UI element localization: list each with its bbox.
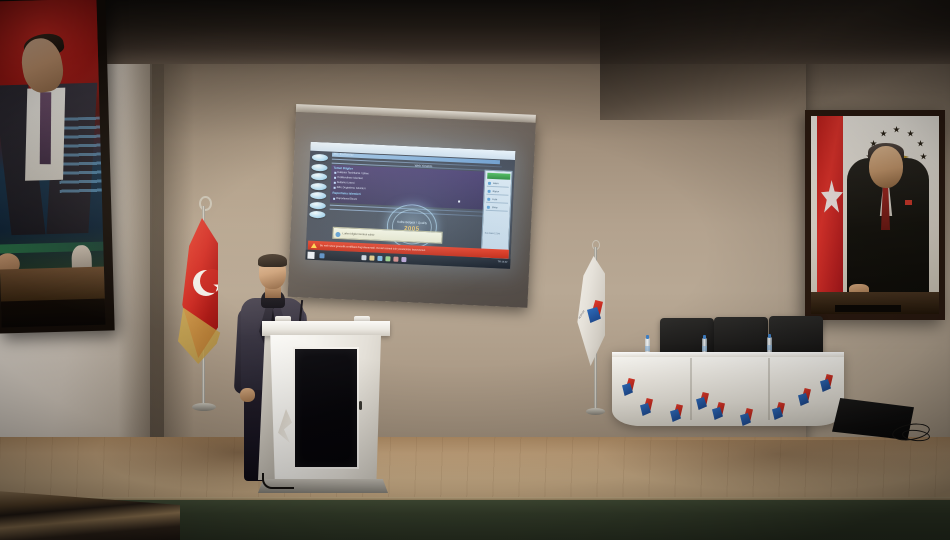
bottle-label	[767, 345, 772, 350]
portrait-foreground-dark	[1, 298, 106, 327]
cloth-logo-icon	[798, 388, 813, 406]
cloth-logo-icon	[696, 392, 711, 410]
row-icon	[487, 197, 491, 201]
lectern-cable	[262, 473, 294, 489]
menu-bullet	[334, 172, 336, 174]
portrait-blue-lights	[58, 117, 104, 196]
side-panel-footer: Son Giris 12:04	[485, 233, 507, 236]
system-tray-clock[interactable]: TR 14:22	[498, 260, 508, 263]
cloth-logo-icon	[820, 374, 835, 392]
portrait-head	[869, 146, 903, 188]
side-panel-row[interactable]: Rapor	[486, 188, 508, 196]
side-panel-row[interactable]: Onay	[486, 204, 508, 212]
menu-section-heading: Raporlama Islemleri	[332, 191, 361, 196]
turkish-flag-stand	[170, 196, 232, 424]
cloth-logo-icon	[670, 404, 685, 422]
menu-item[interactable]: Sifre Degistirme Islemleri	[337, 185, 366, 189]
bottle-cap	[646, 335, 649, 339]
side-panel-header	[487, 172, 510, 179]
flag-base	[586, 408, 605, 415]
portrait-desk-shadow	[835, 305, 901, 312]
slide-menu-block: Temel Bilgiler Kullanici Tanimlama / Sil…	[330, 165, 502, 211]
badge-caption: Kalite Belgesi / Quality	[388, 219, 436, 225]
menu-bullet	[334, 177, 336, 179]
menu-item[interactable]: Kullanici Tanimlama / Silme	[337, 170, 369, 174]
taskbar-app-icon[interactable]	[393, 256, 398, 261]
bubble-button[interactable]	[312, 154, 328, 162]
bottle-label	[645, 346, 650, 351]
flag-finial-icon	[199, 196, 212, 211]
lectern-dark-panel	[293, 347, 359, 469]
presenter-hair	[258, 254, 287, 267]
bubble-button[interactable]	[310, 192, 326, 200]
bubble-button[interactable]	[310, 201, 326, 209]
framed-portrait-president	[805, 110, 945, 320]
lectern-latch	[359, 401, 362, 410]
cloth-logo-icon	[772, 402, 787, 420]
bubble-button[interactable]	[311, 163, 327, 171]
portrait-desk	[811, 292, 939, 314]
taskbar-app-icon[interactable]	[361, 255, 366, 260]
institution-flag-cloth: KURUM	[575, 256, 605, 366]
row-icon	[488, 189, 492, 193]
lectern	[262, 321, 390, 497]
cloth-logo-icon	[712, 402, 727, 420]
menu-bullet	[334, 182, 336, 184]
slide-side-panel[interactable]: Islem Rapor Liste Onay Son Giris 12:04	[480, 170, 512, 261]
start-button-icon[interactable]	[307, 251, 314, 258]
bubble-button[interactable]	[311, 173, 327, 181]
presenter-hand	[240, 388, 255, 402]
lapel-flag-pin-icon	[905, 200, 912, 205]
portrait-turkish-flag	[817, 116, 843, 296]
warning-icon	[310, 242, 316, 247]
taskbar-app-icon[interactable]	[401, 256, 406, 261]
flag-base	[192, 403, 216, 411]
lectern-top-surface	[262, 321, 390, 336]
bubble-button[interactable]	[309, 211, 325, 219]
menu-bullet	[333, 198, 335, 200]
mouse-cursor-icon	[458, 200, 460, 202]
side-panel-row[interactable]: Liste	[486, 196, 508, 204]
cloth-logo-icon	[740, 408, 755, 426]
taskbar-app-icon[interactable]	[369, 255, 374, 260]
slide-header-left: Hi, Kullanici	[334, 152, 354, 157]
cloth-logo-icon	[622, 378, 637, 396]
portrait-canvas-right	[811, 116, 939, 314]
projected-slide: Hi, Kullanici Web Yonetim Temel Bilgiler…	[305, 142, 515, 269]
row-icon	[488, 181, 492, 185]
taskbar-app-icon[interactable]	[385, 256, 390, 261]
bottle-label	[702, 346, 707, 351]
conference-hall-scene: Hi, Kullanici Web Yonetim Temel Bilgiler…	[0, 0, 950, 540]
bottle-cap	[703, 335, 706, 339]
slide-bubble-buttons[interactable]	[309, 154, 330, 221]
crescent-icon	[193, 270, 219, 296]
taskbar-app-icon[interactable]	[377, 255, 382, 260]
table-edge	[612, 352, 844, 357]
menu-item[interactable]: Yetkilendirme Islemleri	[337, 175, 363, 179]
portrait-desk	[0, 266, 106, 303]
side-panel-row[interactable]: Islem	[487, 180, 509, 188]
menu-item[interactable]: Kullanici Listesi	[337, 180, 355, 184]
portrait-tie	[40, 92, 52, 164]
framed-portrait-ataturk	[0, 0, 115, 334]
row-icon	[487, 205, 491, 209]
flag-star-icon	[821, 180, 843, 214]
portrait-canvas-left	[0, 0, 106, 327]
taskbar-app-icon[interactable]	[319, 253, 324, 258]
bubble-button[interactable]	[311, 182, 327, 190]
menu-bullet	[334, 187, 336, 189]
institution-logo-icon	[587, 300, 605, 324]
institution-logo-text: KURUM	[578, 310, 586, 320]
menu-item[interactable]: Raporlama Ekrani	[336, 196, 357, 200]
projection-screen: Hi, Kullanici Web Yonetim Temel Bilgiler…	[288, 112, 536, 308]
panel-table	[612, 352, 844, 430]
bottle-cap	[768, 334, 771, 338]
cloth-logo-icon	[640, 398, 655, 416]
ceiling-slope	[600, 0, 950, 120]
